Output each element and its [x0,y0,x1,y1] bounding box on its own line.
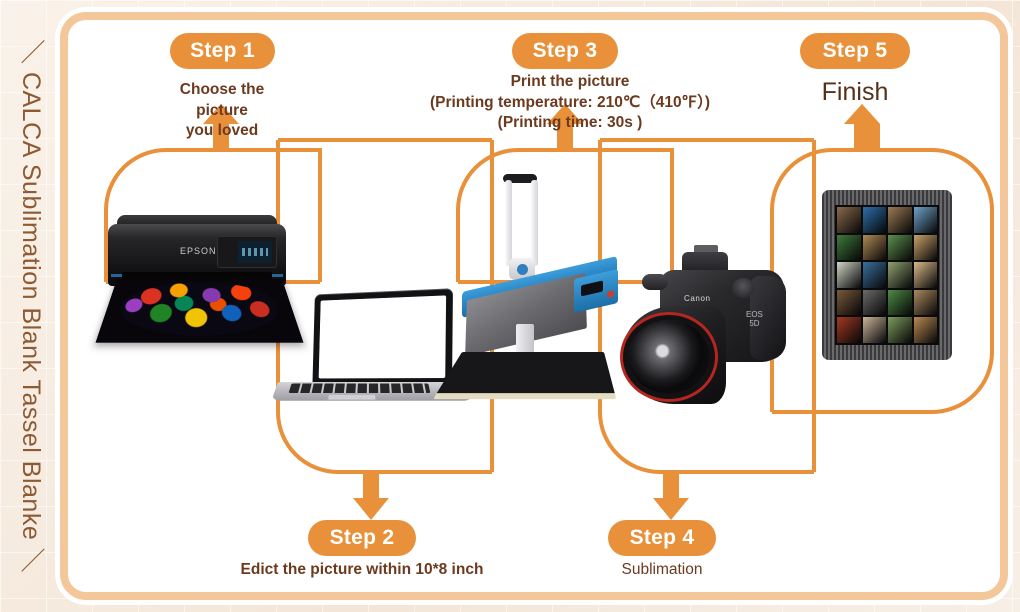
camera-model-line-2: 5D [746,319,763,328]
blanket-photo-tile [863,317,887,343]
step-caption-2-line-1: Edict the picture within 10*8 inch [212,560,512,581]
camera-control-dial [732,278,754,298]
arrow-down-step2 [353,472,389,520]
product-image-photo-blanket [822,190,952,360]
step-caption-4-line-1: Sublimation [580,560,744,581]
step-caption-3-line-2: (Printing temperature: 210℃（410℉）) [410,93,730,114]
heat-press-arm-right [531,180,538,266]
blanket-photo-tile [914,290,938,316]
step-badge-1[interactable]: Step 1 [170,33,275,69]
laptop-trackpad [327,394,376,400]
blanket-photo-tile [863,290,887,316]
blanket-photo-tile [914,207,938,233]
step-caption-3-line-3: (Printing time: 30s ) [410,113,730,134]
heat-press-lower-pad [433,352,616,399]
product-image-camera: Canon EOS 5D [622,250,802,415]
laptop-screen [319,295,446,378]
side-caption-left-text: ／ CALCA Sublimation Blank Tassel Blanke … [13,39,49,573]
blanket-photo-tile [888,235,912,261]
camera-lens-glass [628,320,710,394]
laptop-lid [312,288,453,385]
process-flow-diagram: Step 1 Choose the picture you loved EPSO… [60,12,1008,600]
step-caption-3-line-1: Print the picture [410,72,730,93]
blanket-photo-tile [888,207,912,233]
step-badge-5[interactable]: Step 5 [800,33,910,69]
camera-mode-dial [642,274,668,290]
down-arrows [353,472,689,520]
blanket-photo-tile [914,235,938,261]
blanket-photo-tile [888,290,912,316]
camera-lens [622,306,726,404]
step-caption-1-line-1: Choose the picture [152,80,292,121]
step-caption-5-line-1: Finish [775,76,935,109]
printed-photo-sheet [95,279,303,343]
blanket-photo-grid [835,205,939,345]
step-caption-1-line-2: you loved [152,121,292,142]
blanket-photo-tile [888,317,912,343]
printer-brand-label: EPSON [180,246,217,256]
laptop-keyboard [289,384,431,393]
camera-model-line-1: EOS [746,310,763,319]
heat-press-arm-left [505,180,512,266]
printer-body: EPSON [108,224,286,286]
product-image-laptop [278,287,478,422]
step-caption-1: Choose the picture you loved [152,80,292,142]
step-badge-2[interactable]: Step 2 [308,520,416,556]
blanket-photo-tile [888,262,912,288]
side-caption-left: ／ CALCA Sublimation Blank Tassel Blanke … [8,0,54,612]
blanket-photo-tile [863,235,887,261]
blanket-photo-tile [837,317,861,343]
blanket-photo-tile [837,262,861,288]
camera-brand-label: Canon [684,294,711,303]
step-caption-2: Edict the picture within 10*8 inch [212,560,512,581]
arrow-down-step4 [653,472,689,520]
step-caption-5: Finish [775,76,935,109]
step-caption-4: Sublimation [580,560,744,581]
step-caption-3: Print the picture (Printing temperature:… [410,72,730,134]
step-badge-4[interactable]: Step 4 [608,520,716,556]
printed-floral-artwork [113,282,287,336]
product-image-heat-press [462,174,632,424]
printer-display-screen [238,241,272,263]
blanket-photo-tile [914,262,938,288]
blanket-photo-tile [837,290,861,316]
blanket-photo-tile [837,235,861,261]
blanket-photo-tile [863,207,887,233]
product-image-printer: EPSON [108,224,298,354]
blanket-photo-tile [863,262,887,288]
step-badge-3[interactable]: Step 3 [512,33,618,69]
blanket-photo-tile [837,207,861,233]
camera-model-label: EOS 5D [746,310,763,328]
blanket-photo-tile [914,317,938,343]
printer-control-panel [217,236,277,268]
